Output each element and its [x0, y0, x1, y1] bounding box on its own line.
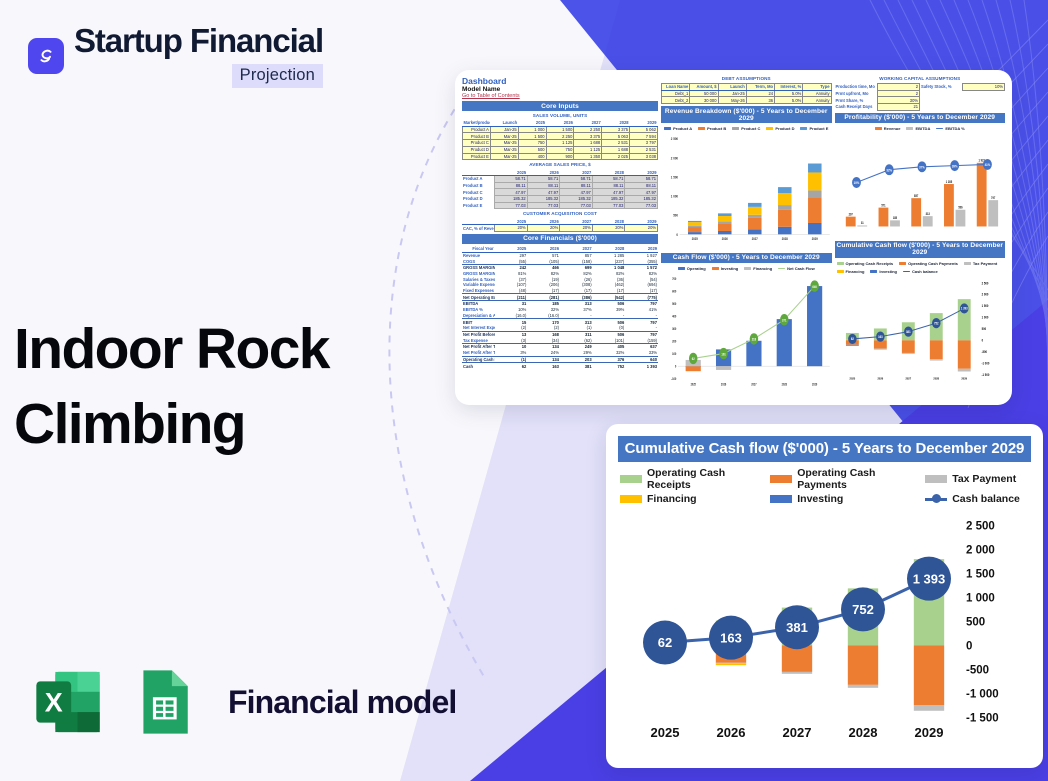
row-label: Net Interest Expense [462, 325, 495, 331]
table-row: Product D185.32185.32185.32185.32185.32 [462, 196, 658, 203]
svg-text:-100: -100 [671, 376, 676, 381]
cash-flow-chart: 7006005004003002001000-10020252026202720… [661, 274, 832, 399]
svg-text:2025: 2025 [651, 725, 680, 740]
svg-text:37%: 37% [919, 165, 925, 169]
legend-item: Product D [766, 126, 794, 131]
core-financials-table: Fiscal Year 2025 2026 2027 2028 2029 Rev… [462, 246, 658, 369]
svg-text:0: 0 [981, 338, 983, 342]
dashboard-preview-card[interactable]: Dashboard Model Name Go to Table of Cont… [455, 70, 1012, 405]
cell: (1) [495, 356, 528, 363]
table-row: Product B88.1188.1188.1188.1188.11 [462, 182, 658, 189]
svg-text:163: 163 [720, 630, 742, 645]
svg-text:381: 381 [906, 329, 911, 333]
svg-text:2 500: 2 500 [966, 521, 995, 533]
cell: 640 [625, 356, 658, 363]
svg-text:1 393: 1 393 [960, 306, 967, 310]
debt-assumptions-table: Loan Name Amount, $ Launch Term, Mo Inte… [661, 83, 832, 104]
row-label: Fixed Expenses [462, 288, 495, 294]
legend-item: Operating [678, 266, 706, 271]
debt-assumptions-caption: DEBT ASSUMPTIONS [661, 76, 832, 81]
svg-text:-1 500: -1 500 [981, 373, 989, 377]
row-label: Salaries & Taxes [462, 276, 495, 282]
profitability-legend: Revenue EBITDA EBITDA % [835, 125, 1006, 132]
avg-price-caption: AVERAGE SALES PRICE, $ [462, 162, 658, 167]
row-label: Net Profit After Tax % [462, 350, 495, 356]
svg-text:101: 101 [721, 352, 726, 357]
svg-text:2028: 2028 [782, 382, 788, 387]
svg-text:2026: 2026 [717, 725, 746, 740]
table-row: Product AJan-251 0001 5002 2503 3755 062 [463, 126, 658, 133]
circular-arrow-logo-icon [35, 45, 57, 67]
cumulative-cashflow-title: Cumulative Cash flow ($'000) - 5 Years t… [618, 436, 1031, 462]
brand-subtitle: Projection [232, 64, 323, 88]
sales-volume-table: Market/product Launch 2025 2026 2027 202… [462, 120, 658, 160]
table-row: Product A58.7158.7158.7158.7158.71 [462, 175, 658, 182]
table-row: Product E77.0377.0377.0377.0377.03 [462, 202, 658, 209]
cell: (542) [593, 294, 626, 301]
legend-item: Tax Payment [964, 261, 997, 266]
table-row: Net Operating Expenses(211)(281)(386)(54… [462, 294, 658, 301]
cumulative-cashflow-legend: Operating Cash Receipts Operating Cash P… [618, 462, 1031, 507]
dashboard-right-column: WORKING CAPITAL ASSUMPTIONS Production t… [835, 76, 1006, 399]
svg-text:600: 600 [672, 289, 677, 294]
svg-text:371: 371 [782, 318, 787, 323]
table-row: Product DMar-255007501 1251 6882 531 [463, 146, 658, 153]
row-label: GROSS MARGIN [462, 264, 495, 270]
svg-text:2026: 2026 [722, 237, 728, 242]
legend-item: Investing [870, 269, 897, 274]
svg-text:2 000: 2 000 [671, 156, 678, 161]
svg-text:2 000: 2 000 [966, 545, 995, 557]
svg-text:500: 500 [673, 213, 678, 218]
legend-item: Investing [712, 266, 739, 271]
legend-item: Product B [698, 126, 726, 131]
dashboard-title: Dashboard [462, 76, 658, 86]
brand-title: Startup Financial [74, 24, 323, 59]
svg-text:2 500: 2 500 [671, 137, 678, 142]
svg-text:571: 571 [881, 203, 886, 207]
svg-text:500: 500 [981, 327, 986, 331]
revenue-breakdown-title: Revenue Breakdown ($'000) - 5 Years to D… [661, 106, 832, 123]
cash-flow-legend: Operating Investing Financing Net Cash F… [661, 265, 832, 272]
svg-text:2027: 2027 [905, 376, 911, 380]
cell: 376 [593, 356, 626, 363]
svg-text:2028: 2028 [782, 237, 788, 242]
svg-text:100: 100 [672, 351, 677, 356]
svg-text:32%: 32% [886, 168, 892, 172]
table-row: Product CMar-257501 1251 6882 5313 797 [463, 140, 658, 147]
legend-item-operating-cash-receipts: Operating Cash Receipts [620, 467, 766, 491]
svg-text:381: 381 [786, 620, 808, 635]
table-row: Prmt Share, % 30% [835, 97, 1005, 104]
revenue-breakdown-legend: Product A Product B Product C Product D … [661, 125, 832, 132]
svg-text:1 000: 1 000 [981, 315, 988, 319]
svg-text:-1 000: -1 000 [966, 689, 999, 701]
cell: 381 [560, 363, 593, 369]
svg-text:0: 0 [966, 641, 972, 653]
profitability-chart: 297315711858573131 2855061 92779710%32%3… [835, 134, 1006, 239]
legend-item: Financing [837, 269, 865, 274]
svg-text:2025: 2025 [692, 237, 698, 242]
svg-text:2029: 2029 [812, 237, 818, 242]
brand-mark-icon [28, 38, 64, 74]
profitability-title: Profitability ($'000) - 5 Years to Decem… [835, 113, 1006, 123]
svg-text:-1 500: -1 500 [966, 713, 999, 725]
cumulative-cashflow-title-small: Cumulative Cash flow ($'000) - 5 Years t… [835, 241, 1006, 258]
svg-text:2027: 2027 [752, 237, 758, 242]
table-row: Debt_230 000May-26365.0%Annuity [662, 97, 832, 104]
legend-item: Operating Cash Payments [899, 261, 958, 266]
row-label: GROSS MARGIN % [462, 271, 495, 277]
cumulative-cashflow-chart-small: 2 5002 0001 5001 0005000-500-1 000-1 500… [835, 277, 1006, 399]
svg-text:1 000: 1 000 [671, 194, 678, 199]
svg-text:506: 506 [958, 205, 963, 209]
row-label: Net Operating Expenses [462, 294, 495, 301]
legend-item: Operating Cash Receipts [837, 261, 894, 266]
table-row: Product C47.9747.9747.9747.9747.97 [462, 189, 658, 196]
svg-text:313: 313 [925, 211, 930, 215]
cac-caption: CUSTOMER ACQUISITION COST [462, 211, 658, 216]
revenue-breakdown-chart: 2 5002 0001 5001 00050002025202620272028… [661, 134, 832, 251]
svg-text:2029: 2029 [915, 725, 944, 740]
svg-text:-1 000: -1 000 [981, 361, 989, 365]
legend-item-financing: Financing [620, 493, 766, 505]
row-label: Cash [462, 363, 495, 369]
table-row: Product BMar-251 5002 2503 3755 0637 594 [463, 133, 658, 140]
cell: (775) [625, 294, 658, 301]
svg-text:752: 752 [852, 602, 874, 617]
cell: (211) [495, 294, 528, 301]
svg-text:2 500: 2 500 [981, 281, 988, 285]
svg-text:-500: -500 [966, 665, 989, 677]
svg-text:1 393: 1 393 [913, 571, 946, 586]
svg-text:2026: 2026 [877, 376, 883, 380]
page-title: Indoor Rock Climbing [14, 312, 414, 462]
legend-item: EBITDA % [936, 126, 964, 131]
legend-item-investing: Investing [770, 493, 921, 505]
row-label: Variable Expenses [462, 282, 495, 288]
legend-item: Financing [744, 266, 772, 271]
svg-text:2028: 2028 [933, 376, 939, 380]
svg-text:500: 500 [966, 617, 985, 629]
model-name-label: Model Name [462, 86, 658, 93]
legend-item: Product A [664, 126, 692, 131]
svg-text:2029: 2029 [812, 382, 818, 387]
svg-text:62: 62 [692, 357, 695, 362]
svg-text:1 500: 1 500 [981, 304, 988, 308]
svg-text:X: X [45, 688, 63, 718]
svg-text:185: 185 [892, 216, 897, 220]
file-type-group: X Financial model [30, 664, 456, 740]
svg-text:752: 752 [933, 321, 938, 325]
cell: (281) [527, 294, 560, 301]
table-of-contents-link[interactable]: Go to Table of Contents [462, 93, 658, 99]
svg-text:163: 163 [878, 334, 883, 338]
legend-item-tax-payment: Tax Payment [925, 467, 1029, 491]
svg-text:41%: 41% [984, 163, 990, 167]
table-row: Debt_150 000Jan-25245.0%Annuity [662, 90, 832, 97]
brand-logo: Startup Financial Projection [28, 24, 323, 88]
cell: 134 [527, 356, 560, 363]
cumulative-cashflow-legend-small: Operating Cash Receipts Operating Cash P… [835, 260, 1006, 275]
cell: 62 [495, 363, 528, 369]
table-row: Prmt upfront, Mo 2 [835, 90, 1005, 97]
svg-text:39%: 39% [951, 164, 957, 168]
svg-text:857: 857 [914, 193, 919, 197]
cac-table: 2025 2026 2027 2028 2029 CAC, % of Reven… [462, 218, 658, 231]
svg-text:400: 400 [672, 314, 677, 319]
svg-text:2025: 2025 [849, 376, 855, 380]
row-label: Net Profit Before Tax [462, 331, 495, 337]
dashboard-middle-column: DEBT ASSUMPTIONS Loan Name Amount, $ Lau… [661, 76, 832, 399]
dashboard-heading: Dashboard Model Name Go to Table of Cont… [462, 76, 658, 99]
file-type-label: Financial model [228, 684, 456, 721]
svg-text:500: 500 [672, 301, 677, 306]
legend-item: Product E [800, 126, 828, 131]
svg-text:297: 297 [848, 212, 853, 216]
svg-text:797: 797 [991, 195, 996, 199]
table-row: Operating Cash Flows(1)134203376640 [462, 356, 658, 363]
average-price-table: 2025 2026 2027 2028 2029 Product A58.715… [462, 169, 658, 209]
table-header-row: Loan Name Amount, $ Launch Term, Mo Inte… [662, 84, 832, 91]
legend-item: Product C [732, 126, 760, 131]
dashboard-left-column: Dashboard Model Name Go to Table of Cont… [462, 76, 658, 399]
svg-text:200: 200 [672, 339, 677, 344]
working-capital-table: Production time, Mo 2 Safety Stock, % 10… [835, 83, 1006, 111]
row-label: Depreciation & Amortization [462, 313, 495, 319]
row-label: Net Profit After Tax [462, 344, 495, 350]
table-row: CAC, % of Revenue 20% 20% 20% 20% 20% [462, 225, 658, 232]
svg-text:700: 700 [672, 276, 677, 281]
table-row: Cash621633817521 393 [462, 363, 658, 369]
row-label: Operating Cash Flows [462, 356, 495, 363]
svg-text:218: 218 [752, 337, 757, 342]
svg-text:640: 640 [812, 284, 817, 289]
svg-text:-500: -500 [981, 350, 987, 354]
legend-item: Cash balance [903, 269, 938, 274]
cell: 203 [560, 356, 593, 363]
svg-text:31: 31 [860, 221, 863, 225]
svg-text:2029: 2029 [961, 376, 967, 380]
working-capital-caption: WORKING CAPITAL ASSUMPTIONS [835, 76, 1006, 81]
legend-item: Revenue [875, 126, 901, 131]
table-row: Product EMar-254009001 3502 0253 038 [463, 153, 658, 160]
svg-text:2027: 2027 [783, 725, 812, 740]
cash-flow-title: Cash Flow ($'000) - 5 Years to December … [661, 253, 832, 263]
svg-text:1 285: 1 285 [945, 179, 952, 183]
core-inputs-header: Core Inputs [462, 101, 658, 111]
svg-text:2027: 2027 [751, 382, 757, 387]
microsoft-excel-icon: X [30, 664, 106, 740]
svg-text:10%: 10% [853, 181, 859, 185]
legend-item: EBITDA [906, 126, 930, 131]
cumulative-cashflow-card[interactable]: Cumulative Cash flow ($'000) - 5 Years t… [606, 424, 1043, 768]
cumulative-cashflow-plot: 2 5002 0001 5001 0005000-500-1 000-1 500… [618, 507, 1031, 760]
svg-text:1 500: 1 500 [966, 569, 995, 581]
svg-text:2028: 2028 [849, 725, 878, 740]
legend-item-operating-cash-payments: Operating Cash Payments [770, 467, 921, 491]
cell: 163 [527, 363, 560, 369]
svg-text:1 500: 1 500 [671, 175, 678, 180]
legend-item: Net Cash Flow [778, 266, 815, 271]
svg-text:0: 0 [675, 364, 677, 369]
google-sheets-icon [126, 664, 202, 740]
sales-volume-caption: SALES VOLUME, UNITS [462, 113, 658, 118]
svg-text:62: 62 [850, 337, 853, 341]
svg-text:0: 0 [676, 233, 678, 238]
svg-text:1 000: 1 000 [966, 593, 995, 605]
table-row: Cash Receipt Days 21 [835, 104, 1005, 111]
core-financials-body: Revenue2975718571 2851 927COGS(55)(105)(… [462, 252, 658, 369]
table-row: Production time, Mo 2 Safety Stock, % 10… [835, 84, 1005, 91]
svg-text:62: 62 [658, 635, 672, 650]
svg-text:2025: 2025 [691, 382, 697, 387]
svg-text:2 000: 2 000 [981, 292, 988, 296]
legend-item-cash-balance: Cash balance [925, 493, 1029, 505]
cell: 752 [593, 363, 626, 369]
core-financials-header: Core Financials ($'000) [462, 234, 658, 244]
svg-text:300: 300 [672, 326, 677, 331]
svg-text:2026: 2026 [721, 382, 727, 387]
cell: 1 393 [625, 363, 658, 369]
cell: (386) [560, 294, 593, 301]
